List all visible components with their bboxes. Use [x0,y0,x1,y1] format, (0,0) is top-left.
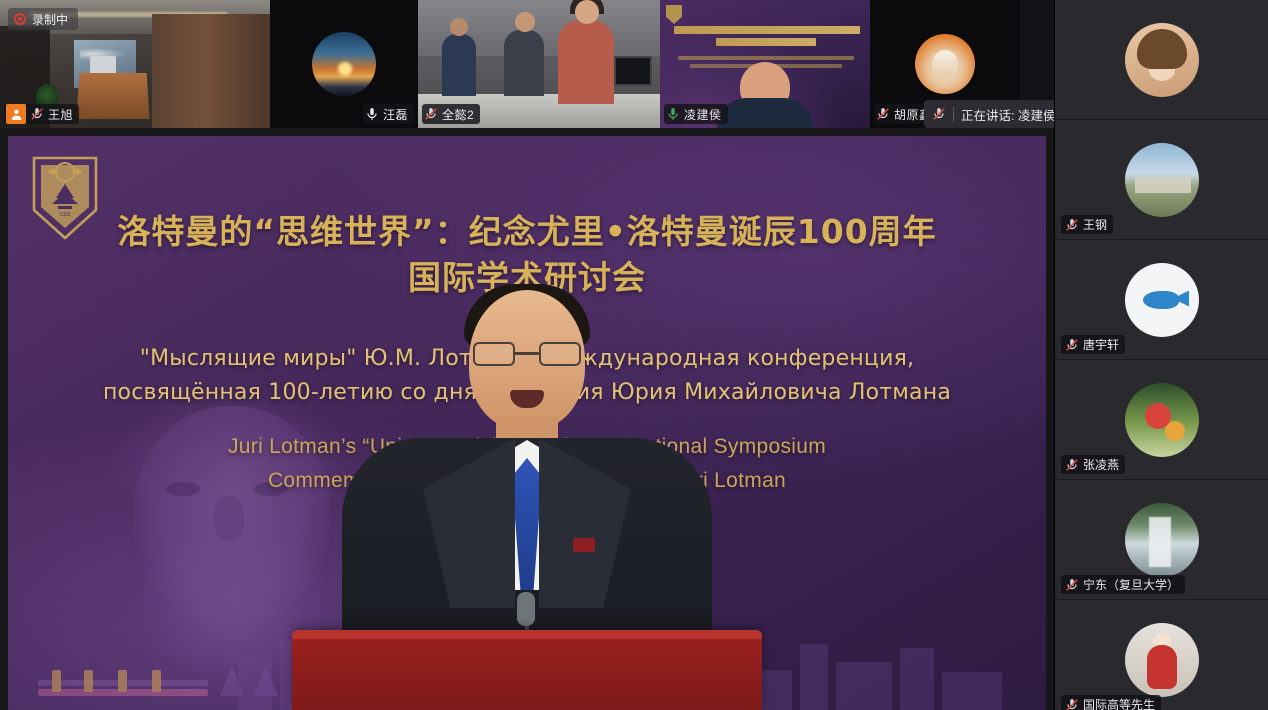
recording-dot-icon [14,13,26,25]
monitor-decor [614,56,652,86]
participant-filmstrip[interactable]: 录制中 王旭 [0,0,1054,128]
video-tile-slide-thumbnail[interactable]: 凌建侯 [660,0,870,128]
mic-on-icon [365,107,379,121]
participant-sidebar[interactable]: 王钢 唐宇轩 张凌燕 [1054,0,1268,710]
wall-decor [152,14,270,128]
participant-name-label: 国际高等先生 [1083,696,1155,710]
avatar [915,34,975,94]
person-decor [504,30,544,96]
avatar [1125,143,1199,217]
tile-name-badge: 凌建侯 [664,104,728,124]
tile-name-badge: 汪磊 [363,104,414,124]
sidebar-participant-tile[interactable]: 唐宇轩 [1055,240,1268,360]
video-tile-lecture-hall[interactable]: 录制中 王旭 [0,0,270,128]
participant-name-badge: 唐宇轩 [1061,335,1125,354]
participant-name-badge: 宁东（复旦大学） [1061,575,1185,594]
title-line-decor [716,38,816,46]
participant-name-label: 王钢 [1083,216,1107,233]
mic-muted-icon [932,107,946,121]
participant-name-badge: 张凌燕 [1061,455,1125,474]
mic-muted-icon [876,107,890,121]
participant-name-badge: 国际高等先生 [1061,695,1161,710]
mic-muted-icon [30,107,44,121]
sidebar-participant-tile[interactable] [1055,0,1268,120]
mic-muted-icon [424,107,438,121]
tile-name-label: 王旭 [48,106,73,123]
avatar [1125,503,1199,577]
shared-screen-stage[interactable]: 1902 洛特曼的“思维世界”：纪念尤里•洛特曼诞辰100周年 国际学术研讨会 … [0,128,1054,710]
subtitle-line-decor [678,56,854,60]
sidebar-participant-tile[interactable]: 宁东（复旦大学） [1055,480,1268,600]
podium-decor [77,73,150,119]
person-decor [442,34,476,96]
sidebar-participant-tile[interactable]: 王钢 [1055,120,1268,240]
tile-name-label: 凌建侯 [684,106,722,123]
zoom-meeting-window: 录制中 王旭 [0,0,1268,710]
slide-title-line-1: 洛特曼的“思维世界”：纪念尤里•洛特曼诞辰100周年 [8,210,1046,254]
mic-muted-icon [1065,338,1079,352]
avatar [1125,263,1199,337]
avatar [312,32,376,96]
sidebar-participant-tile[interactable]: 国际高等先生 [1055,600,1268,710]
tile-name-badge: 王旭 [4,104,79,124]
glasses-icon [473,342,581,368]
avatar [1125,23,1199,97]
participant-name-badge: 王钢 [1061,215,1113,234]
tile-name-label: 汪磊 [383,106,408,123]
participant-name-label: 张凌燕 [1083,456,1119,473]
university-crest-icon [666,5,682,24]
presenter-badge-decor [573,538,595,552]
divider [953,107,954,122]
sidebar-participant-tile[interactable]: 张凌燕 [1055,360,1268,480]
presentation-slide: 1902 洛特曼的“思维世界”：纪念尤里•洛特曼诞辰100周年 国际学术研讨会 … [8,136,1046,710]
recording-indicator: 录制中 [8,8,78,30]
participant-name-label: 宁东（复旦大学） [1083,576,1179,593]
video-tile-sunset-avatar[interactable]: 汪磊 [270,0,418,128]
video-tile-meeting-room[interactable]: 全懿2 [418,0,660,128]
mic-muted-icon [1065,578,1079,592]
avatar [1125,383,1199,457]
mic-muted-icon [1065,218,1079,232]
person-decor [558,20,614,104]
mic-muted-icon [1065,698,1079,710]
avatar [1125,623,1199,697]
recording-label: 录制中 [32,11,68,28]
microphone-icon [517,592,535,626]
host-person-icon [6,104,26,124]
tile-name-label: 全懿2 [442,106,474,123]
speaker-body-decor [717,98,813,128]
mic-muted-icon [1065,458,1079,472]
participant-name-label: 唐宇轩 [1083,336,1119,353]
mic-on-icon [666,107,680,121]
podium-decor [292,630,762,710]
title-line-decor [674,26,860,34]
tile-name-badge: 全懿2 [422,104,480,124]
